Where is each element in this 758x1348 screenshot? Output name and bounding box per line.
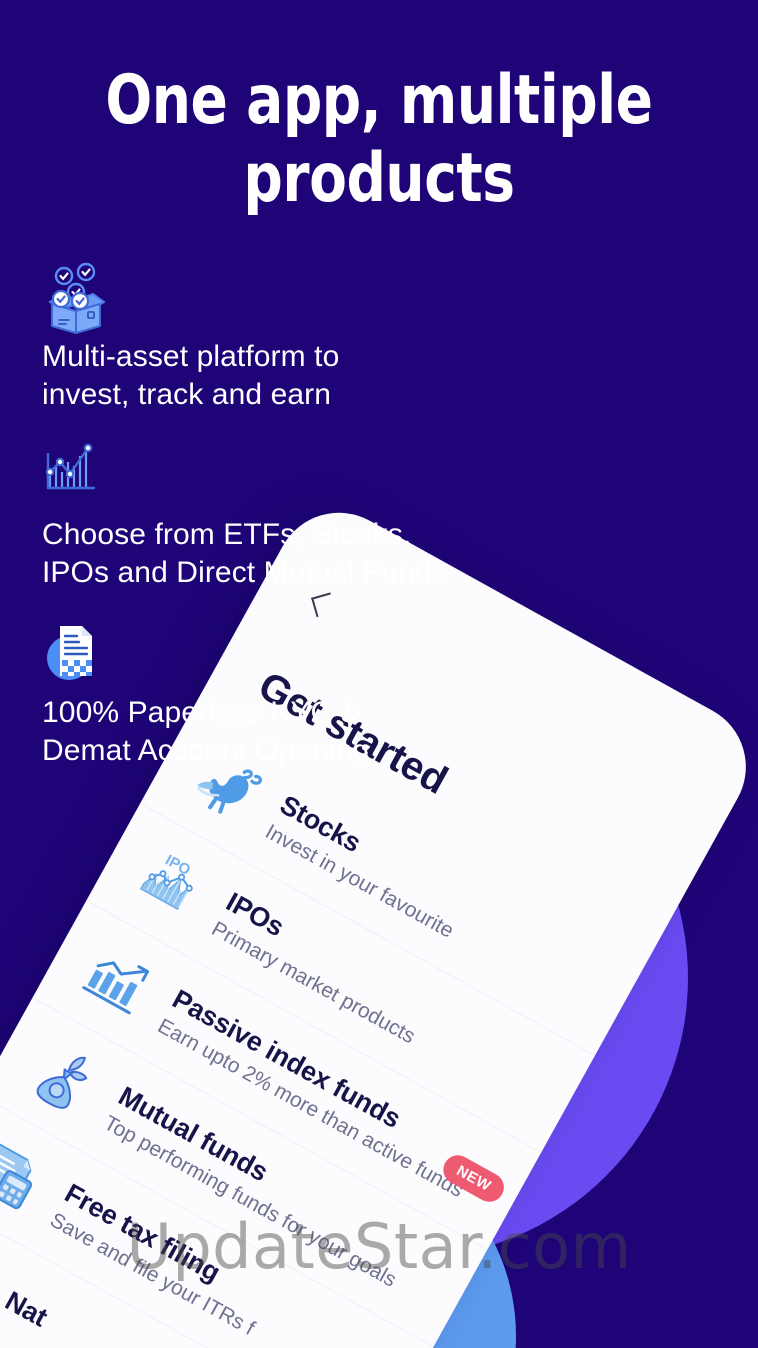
feature-list: Multi-asset platform to invest, track an… [42, 262, 512, 796]
bar-chart-growth-icon [42, 440, 512, 512]
paperless-document-icon [42, 618, 512, 690]
feature-label: Choose from ETFs, Stocks, IPOs and Direc… [42, 516, 512, 592]
ipo-chart-icon: IPO [122, 834, 223, 935]
open-box-with-checkmarks-icon [42, 262, 512, 334]
feature-label: 100% Paperless KYC & Demat Account Openi… [42, 694, 512, 770]
page-title: One app, multiple products [38, 62, 720, 218]
promo-screen: One app, multiple products [0, 0, 758, 1348]
feature-item: 100% Paperless KYC & Demat Account Openi… [42, 618, 512, 770]
feature-label: Multi-asset platform to invest, track an… [42, 338, 512, 414]
index-funds-arrow-chart-icon [68, 931, 169, 1032]
feature-item: Multi-asset platform to invest, track an… [42, 262, 512, 414]
feature-item: Choose from ETFs, Stocks, IPOs and Direc… [42, 440, 512, 592]
product-list: Stocks Invest in your favourite IPO [0, 707, 649, 1348]
money-bag-leaf-icon [14, 1028, 115, 1129]
tax-filing-calculator-icon [0, 1125, 61, 1226]
svg-text:IPO: IPO [162, 852, 193, 880]
